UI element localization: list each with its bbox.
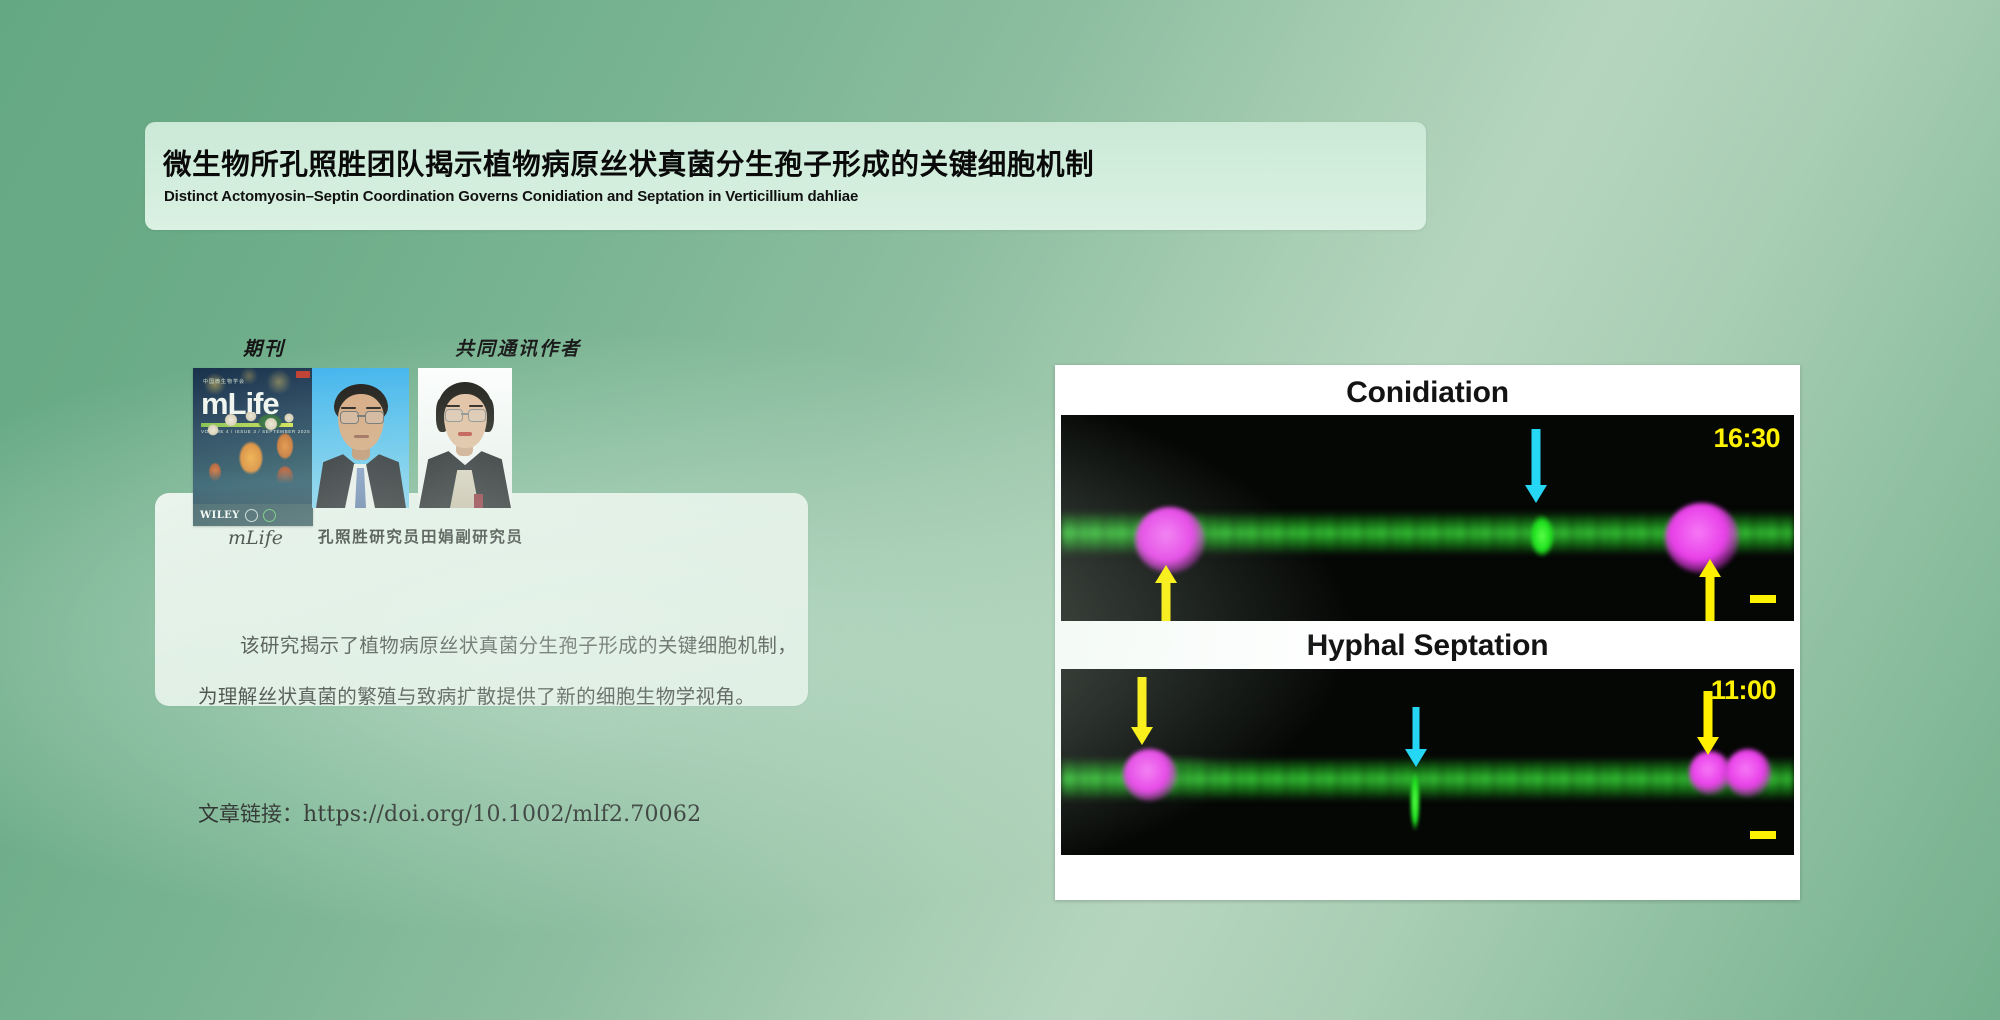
arrow-shaft bbox=[1162, 581, 1171, 621]
title-card: 微生物所孔照胜团队揭示植物病原丝状真菌分生孢子形成的关键细胞机制 Distinc… bbox=[145, 122, 1426, 230]
arrow-shaft bbox=[1532, 429, 1541, 489]
arrow-shaft bbox=[1138, 677, 1147, 729]
journal-cover-image: 中国微生物学会 mLife VOLUME 4 / ISSUE 3 / SEPTE… bbox=[193, 368, 313, 526]
journal-kicker-label: 期刊 bbox=[243, 334, 285, 361]
avatar-kong-zhaosheng bbox=[312, 368, 409, 508]
cover-csm-badge-icon bbox=[263, 509, 276, 522]
summary-line-1: 该研究揭示了植物病原丝状真菌分生孢子形成的关键细胞机制， bbox=[198, 620, 798, 671]
cover-footer: WILEY bbox=[193, 504, 313, 526]
timestamp-septation: 11:00 bbox=[1711, 675, 1776, 706]
septin-ring bbox=[1527, 511, 1557, 561]
portrait-red-trim bbox=[474, 494, 483, 508]
author-caption-kong: 孔照胜研究员 bbox=[318, 525, 421, 547]
cover-cotton-art bbox=[197, 412, 313, 452]
yellow-arrow-right-icon bbox=[1697, 559, 1723, 621]
arrow-head bbox=[1155, 565, 1177, 583]
arrow-head bbox=[1131, 727, 1153, 745]
microscopy-figure-panel: Conidiation 16:30 Hyphal Sept bbox=[1055, 365, 1800, 900]
cyan-arrow-septin-icon bbox=[1523, 429, 1549, 505]
journal-caption: mLife bbox=[228, 527, 283, 549]
portrait-eyeglasses-right bbox=[468, 409, 486, 422]
portrait-mouth bbox=[458, 432, 472, 436]
portrait-eyeglasses-right bbox=[365, 411, 384, 424]
arrow-head bbox=[1699, 559, 1721, 577]
scale-bar bbox=[1750, 595, 1776, 603]
nucleus-right-2 bbox=[1725, 749, 1771, 797]
authors-kicker-label: 共同通讯作者 bbox=[455, 334, 581, 361]
article-link-label: 文章链接： bbox=[198, 802, 303, 826]
arrow-head bbox=[1405, 749, 1427, 767]
nucleus-left bbox=[1135, 507, 1205, 573]
yellow-arrow-left-icon bbox=[1129, 677, 1155, 747]
author-caption-tian: 田娟副研究员 bbox=[421, 525, 524, 547]
summary-line-1-text: 该研究揭示了植物病原丝状真菌分生孢子形成的关键细胞机制， bbox=[240, 634, 797, 657]
summary-line-2: 为理解丝状真菌的繁殖与致病扩散提供了新的细胞生物学视角。 bbox=[198, 671, 798, 722]
cover-cas-badge-icon bbox=[245, 509, 258, 522]
cover-society-text: 中国微生物学会 bbox=[203, 378, 245, 385]
timestamp-conidiation: 16:30 bbox=[1713, 423, 1780, 454]
scale-bar bbox=[1750, 831, 1776, 839]
micrograph-conidiation: 16:30 bbox=[1061, 415, 1794, 621]
septin-ring bbox=[1409, 765, 1421, 837]
cover-corner-badge bbox=[296, 371, 310, 378]
figure-panel-1-title: Conidiation bbox=[1061, 375, 1794, 410]
article-link-line: 文章链接：https://doi.org/10.1002/mlf2.70062 bbox=[198, 798, 701, 828]
arrow-shaft bbox=[1413, 707, 1420, 753]
avatar-tian-juan bbox=[418, 368, 512, 508]
yellow-arrow-left-icon bbox=[1153, 565, 1179, 621]
nucleus-left bbox=[1123, 749, 1177, 801]
portrait-glasses-bridge bbox=[357, 415, 365, 417]
portrait-eyeglasses-left bbox=[445, 409, 463, 422]
portrait-eyeglasses-left bbox=[340, 411, 359, 424]
page-title-chinese: 微生物所孔照胜团队揭示植物病原丝状真菌分生孢子形成的关键细胞机制 bbox=[163, 142, 1094, 183]
cyan-arrow-septum-icon bbox=[1405, 707, 1427, 769]
page-subtitle-english: Distinct Actomyosin–Septin Coordination … bbox=[164, 188, 858, 205]
cover-wave-art bbox=[193, 470, 313, 504]
cover-publisher-label: WILEY bbox=[200, 510, 240, 521]
arrow-head bbox=[1525, 485, 1547, 503]
arrow-head bbox=[1697, 737, 1719, 755]
portrait-glasses-bridge bbox=[461, 413, 468, 415]
micrograph-hyphal-septation: 11:00 bbox=[1061, 669, 1794, 855]
portrait-mouth bbox=[354, 435, 369, 438]
summary-paragraph: 该研究揭示了植物病原丝状真菌分生孢子形成的关键细胞机制， 为理解丝状真菌的繁殖与… bbox=[198, 620, 798, 722]
arrow-shaft bbox=[1706, 575, 1715, 621]
figure-panel-2-title: Hyphal Septation bbox=[1061, 628, 1794, 663]
poster-canvas: 微生物所孔照胜团队揭示植物病原丝状真菌分生孢子形成的关键细胞机制 Distinc… bbox=[0, 0, 2000, 1020]
article-link-url[interactable]: https://doi.org/10.1002/mlf2.70062 bbox=[303, 802, 701, 827]
